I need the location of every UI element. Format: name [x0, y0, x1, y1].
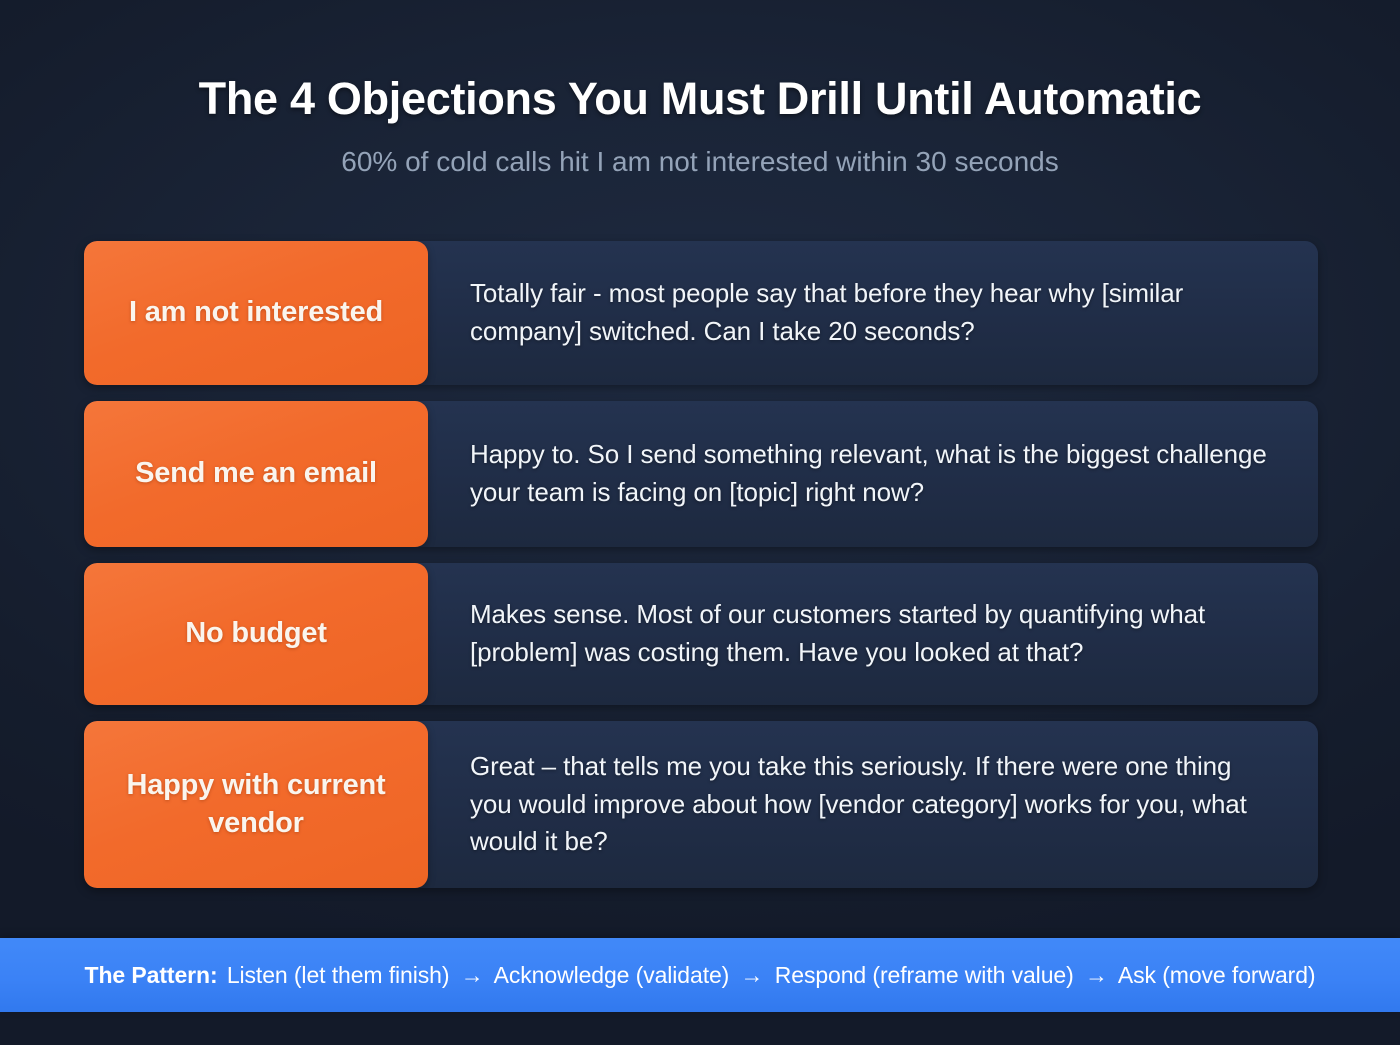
infographic-slide: The 4 Objections You Must Drill Until Au…	[0, 0, 1400, 1045]
objection-label-text: Send me an email	[135, 455, 377, 493]
response-text: Happy to. So I send something relevant, …	[470, 436, 1272, 512]
arrow-right-icon: →	[1080, 962, 1113, 988]
objection-label-text: No budget	[185, 615, 327, 653]
objection-label-panel: Send me an email	[84, 401, 428, 547]
response-text: Totally fair - most people say that befo…	[470, 275, 1272, 351]
arrow-right-icon: →	[456, 962, 489, 988]
response-text: Great – that tells me you take this seri…	[470, 748, 1272, 862]
objection-row: Send me an email Happy to. So I send som…	[84, 401, 1318, 547]
objection-label-panel: I am not interested	[84, 241, 428, 385]
objection-row: No budget Makes sense. Most of our custo…	[84, 563, 1318, 705]
pattern-step-4: Ask (move forward)	[1118, 962, 1316, 988]
objection-row: Happy with current vendor Great – that t…	[84, 721, 1318, 888]
header: The 4 Objections You Must Drill Until Au…	[0, 72, 1400, 179]
response-panel: Totally fair - most people say that befo…	[428, 241, 1318, 385]
objection-row: I am not interested Totally fair - most …	[84, 241, 1318, 385]
pattern-lead-label: The Pattern:	[85, 962, 218, 988]
arrow-right-icon: →	[736, 962, 769, 988]
objection-list: I am not interested Totally fair - most …	[84, 241, 1318, 888]
pattern-step-3: Respond (reframe with value)	[775, 962, 1074, 988]
pattern-footer-bar: The Pattern: Listen (let them finish) → …	[0, 938, 1400, 1012]
page-subtitle: 60% of cold calls hit I am not intereste…	[0, 145, 1400, 179]
objection-label-text: I am not interested	[129, 294, 383, 332]
page-title: The 4 Objections You Must Drill Until Au…	[0, 72, 1400, 125]
pattern-step-2: Acknowledge (validate)	[494, 962, 730, 988]
pattern-step-1: Listen (let them finish)	[227, 962, 450, 988]
response-panel: Happy to. So I send something relevant, …	[428, 401, 1318, 547]
response-text: Makes sense. Most of our customers start…	[470, 596, 1272, 672]
objection-label-panel: Happy with current vendor	[84, 721, 428, 888]
response-panel: Makes sense. Most of our customers start…	[428, 563, 1318, 705]
response-panel: Great – that tells me you take this seri…	[428, 721, 1318, 888]
objection-label-panel: No budget	[84, 563, 428, 705]
objection-label-text: Happy with current vendor	[106, 767, 406, 842]
pattern-footer-text: The Pattern: Listen (let them finish) → …	[85, 962, 1316, 989]
